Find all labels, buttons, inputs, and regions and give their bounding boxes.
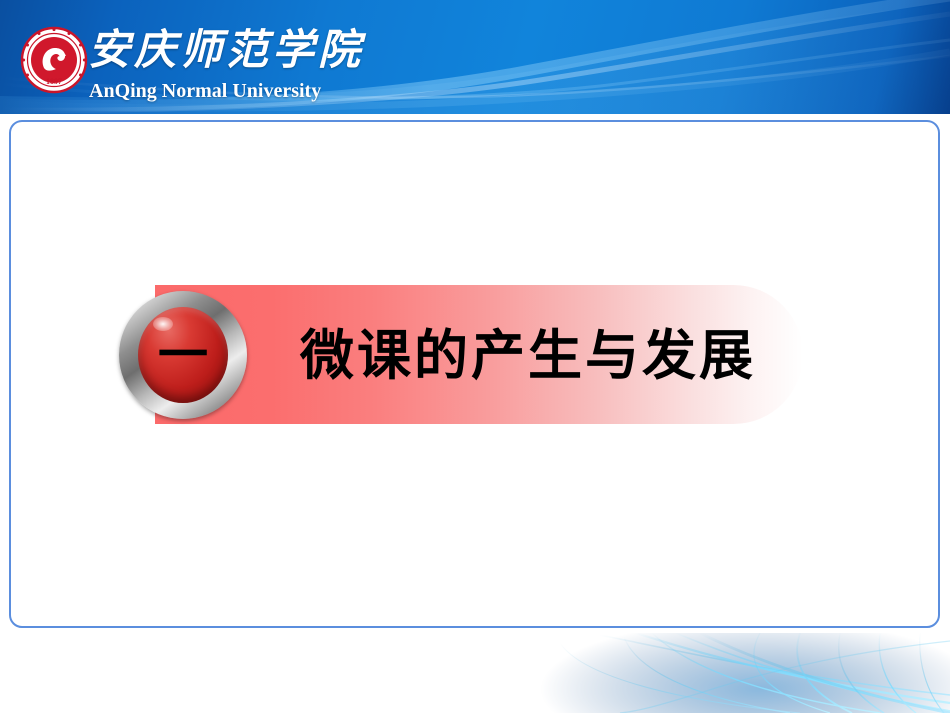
university-seal-icon: 1897 bbox=[20, 26, 88, 94]
section-heading: 微课的产生与发展 bbox=[300, 313, 770, 398]
slide-header: 1897 安庆师范学院 AnQing Normal University bbox=[0, 0, 950, 114]
footer-streak-decoration bbox=[0, 633, 950, 713]
brand-name-cn: 安庆师范学院 bbox=[88, 22, 338, 80]
section-number-badge: 一 bbox=[119, 291, 247, 419]
slide-footer bbox=[0, 633, 950, 713]
seal-year-label: 1897 bbox=[46, 77, 62, 86]
presentation-slide: 1897 安庆师范学院 AnQing Normal University 微课的… bbox=[0, 0, 950, 713]
brand-name-en: AnQing Normal University bbox=[89, 80, 321, 103]
badge-numeral-label: 一 bbox=[119, 291, 247, 419]
